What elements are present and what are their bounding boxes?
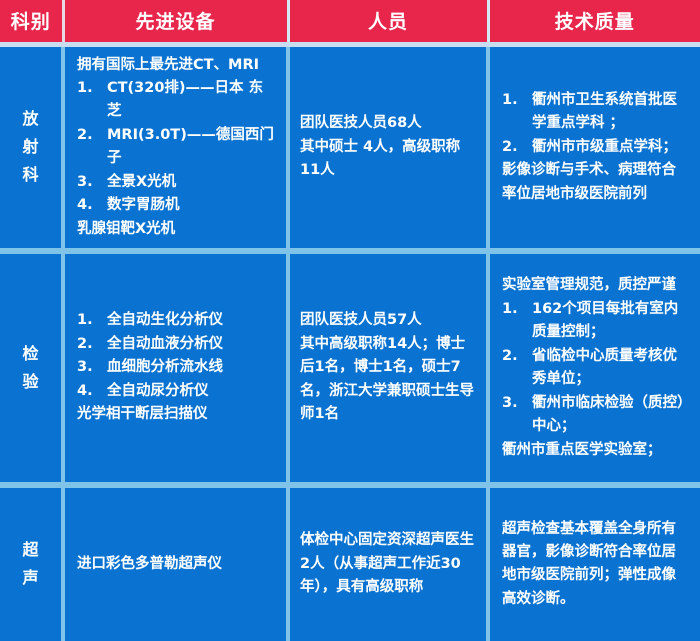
list-item: 2.省临检中心质量考核优秀单位； <box>502 345 690 392</box>
cell-dept: 放射科 <box>0 44 63 251</box>
dept-label: 放射科 <box>23 105 39 189</box>
list-text: 衢州市临床检验（质控）中心； <box>532 395 684 434</box>
equipment-list: 1.CT(320排)——日本 东芝 2.MRI(3.0T)——德国西门子 3.全… <box>77 77 276 218</box>
list-number: 4. <box>77 194 103 217</box>
list-number: 3. <box>502 392 528 415</box>
cell-equipment: 拥有国际上最先进CT、MRI 1.CT(320排)——日本 东芝 2.MRI(3… <box>63 44 288 251</box>
list-text: 162个项目每批有室内质量控制； <box>532 301 678 340</box>
equipment-content: 进口彩色多普勒超声仪 <box>65 549 286 580</box>
staff-content: 体检中心固定资深超声医生2人（从事超声工作近30年），具有高级职称 <box>290 525 486 603</box>
quality-tail: 影像诊断与手术、病理符合率位居地市级医院前列 <box>502 159 690 206</box>
spec-table-container: 科别 先进设备 人员 技术质量 放射科 拥有国际上最先进CT、MRI 1.CT(… <box>0 0 700 641</box>
list-number: 2. <box>77 124 103 147</box>
equipment-lead: 拥有国际上最先进CT、MRI <box>77 54 276 77</box>
staff-content: 团队医技人员68人 其中硕士 4人，高级职称11人 <box>290 108 486 186</box>
table-header: 科别 先进设备 人员 技术质量 <box>0 0 700 44</box>
equipment-content: 拥有国际上最先进CT、MRI 1.CT(320排)——日本 东芝 2.MRI(3… <box>65 50 286 246</box>
cell-quality: 实验室管理规范，质控严谨 1.162个项目每批有室内质量控制； 2.省临检中心质… <box>488 251 700 485</box>
table-row: 检验 1.全自动生化分析仪 2.全自动血液分析仪 3.血细胞分析流水线 4.全自… <box>0 251 700 485</box>
quality-list: 1.162个项目每批有室内质量控制； 2.省临检中心质量考核优秀单位； 3.衢州… <box>502 298 690 439</box>
staff-line: 体检中心固定资深超声医生2人（从事超声工作近30年），具有高级职称 <box>300 529 476 599</box>
quality-content: 实验室管理规范，质控严谨 1.162个项目每批有室内质量控制； 2.省临检中心质… <box>490 270 700 466</box>
list-item: 3.全景X光机 <box>77 171 276 194</box>
list-number: 1. <box>502 298 528 321</box>
list-item: 4.全自动尿分析仪 <box>77 380 276 403</box>
list-item: 1.衢州市卫生系统首批医学重点学科 ； <box>502 89 690 136</box>
list-number: 2. <box>502 345 528 368</box>
equipment-tail: 光学相干断层扫描仪 <box>77 403 276 426</box>
list-item: 3.衢州市临床检验（质控）中心； <box>502 392 690 439</box>
list-text: 全自动尿分析仪 <box>107 383 209 399</box>
department-capability-table: 科别 先进设备 人员 技术质量 放射科 拥有国际上最先进CT、MRI 1.CT(… <box>0 0 700 641</box>
list-number: 3. <box>77 356 103 379</box>
staff-line: 团队医技人员57人 <box>300 309 476 332</box>
list-text: 全自动血液分析仪 <box>107 336 223 352</box>
list-text: 衢州市卫生系统首批医学重点学科 ； <box>532 92 677 131</box>
list-text: 血细胞分析流水线 <box>107 359 223 375</box>
cell-equipment: 1.全自动生化分析仪 2.全自动血液分析仪 3.血细胞分析流水线 4.全自动尿分… <box>63 251 288 485</box>
equipment-content: 1.全自动生化分析仪 2.全自动血液分析仪 3.血细胞分析流水线 4.全自动尿分… <box>65 305 286 430</box>
header-cell-staff: 人员 <box>288 0 488 44</box>
list-text: 全景X光机 <box>107 174 176 190</box>
list-number: 3. <box>77 171 103 194</box>
equipment-tail: 乳腺钼靶X光机 <box>77 218 276 241</box>
quality-lead: 实验室管理规范，质控严谨 <box>502 274 690 297</box>
quality-content: 1.衢州市卫生系统首批医学重点学科 ； 2.衢州市市级重点学科； 影像诊断与手术… <box>490 85 700 210</box>
list-item: 4.数字胃肠机 <box>77 194 276 217</box>
quality-content: 超声检查基本覆盖全身所有器官，影像诊断符合率位居地市级医院前列；弹性成像高效诊断… <box>490 514 700 616</box>
list-item: 2.MRI(3.0T)——德国西门子 <box>77 124 276 171</box>
staff-content: 团队医技人员57人 其中高级职称14人；博士后1名，博士1名，硕士7名，浙江大学… <box>290 305 486 430</box>
list-text: 数字胃肠机 <box>107 197 180 213</box>
staff-line: 其中高级职称14人；博士后1名，博士1名，硕士7名，浙江大学兼职硕士生导师1名 <box>300 333 476 427</box>
list-item: 1.162个项目每批有室内质量控制； <box>502 298 690 345</box>
table-row: 超声 进口彩色多普勒超声仪 体检中心固定资深超声医生2人（从事超声工作近30年）… <box>0 485 700 641</box>
staff-line: 其中硕士 4人，高级职称11人 <box>300 136 476 183</box>
list-number: 2. <box>502 136 528 159</box>
list-number: 4. <box>77 380 103 403</box>
equipment-lead: 进口彩色多普勒超声仪 <box>77 553 276 576</box>
list-item: 1.全自动生化分析仪 <box>77 309 276 332</box>
list-text: 全自动生化分析仪 <box>107 312 223 328</box>
header-cell-dept: 科别 <box>0 0 63 44</box>
list-text: 衢州市市级重点学科； <box>532 139 677 155</box>
list-text: 省临检中心质量考核优秀单位； <box>532 348 677 387</box>
cell-quality: 1.衢州市卫生系统首批医学重点学科 ； 2.衢州市市级重点学科； 影像诊断与手术… <box>488 44 700 251</box>
header-cell-quality: 技术质量 <box>488 0 700 44</box>
table-row: 放射科 拥有国际上最先进CT、MRI 1.CT(320排)——日本 东芝 2.M… <box>0 44 700 251</box>
quality-tail: 衢州市重点医学实验室； <box>502 439 690 462</box>
quality-lead: 超声检查基本覆盖全身所有器官，影像诊断符合率位居地市级医院前列；弹性成像高效诊断… <box>502 518 690 612</box>
list-number: 1. <box>77 77 103 100</box>
header-row: 科别 先进设备 人员 技术质量 <box>0 0 700 44</box>
list-text: CT(320排)——日本 东芝 <box>107 80 263 119</box>
list-number: 1. <box>502 89 528 112</box>
dept-label: 检验 <box>23 340 39 396</box>
dept-label: 超声 <box>23 536 39 592</box>
cell-dept: 检验 <box>0 251 63 485</box>
cell-staff: 团队医技人员57人 其中高级职称14人；博士后1名，博士1名，硕士7名，浙江大学… <box>288 251 488 485</box>
equipment-list: 1.全自动生化分析仪 2.全自动血液分析仪 3.血细胞分析流水线 4.全自动尿分… <box>77 309 276 403</box>
list-item: 3.血细胞分析流水线 <box>77 356 276 379</box>
table-body: 放射科 拥有国际上最先进CT、MRI 1.CT(320排)——日本 东芝 2.M… <box>0 44 700 641</box>
list-number: 1. <box>77 309 103 332</box>
list-item: 2.衢州市市级重点学科； <box>502 136 690 159</box>
header-cell-equipment: 先进设备 <box>63 0 288 44</box>
list-text: MRI(3.0T)——德国西门子 <box>107 127 274 166</box>
list-number: 2. <box>77 333 103 356</box>
cell-staff: 团队医技人员68人 其中硕士 4人，高级职称11人 <box>288 44 488 251</box>
staff-line: 团队医技人员68人 <box>300 112 476 135</box>
quality-list: 1.衢州市卫生系统首批医学重点学科 ； 2.衢州市市级重点学科； <box>502 89 690 159</box>
cell-staff: 体检中心固定资深超声医生2人（从事超声工作近30年），具有高级职称 <box>288 485 488 641</box>
list-item: 1.CT(320排)——日本 东芝 <box>77 77 276 124</box>
cell-dept: 超声 <box>0 485 63 641</box>
list-item: 2.全自动血液分析仪 <box>77 333 276 356</box>
cell-quality: 超声检查基本覆盖全身所有器官，影像诊断符合率位居地市级医院前列；弹性成像高效诊断… <box>488 485 700 641</box>
cell-equipment: 进口彩色多普勒超声仪 <box>63 485 288 641</box>
